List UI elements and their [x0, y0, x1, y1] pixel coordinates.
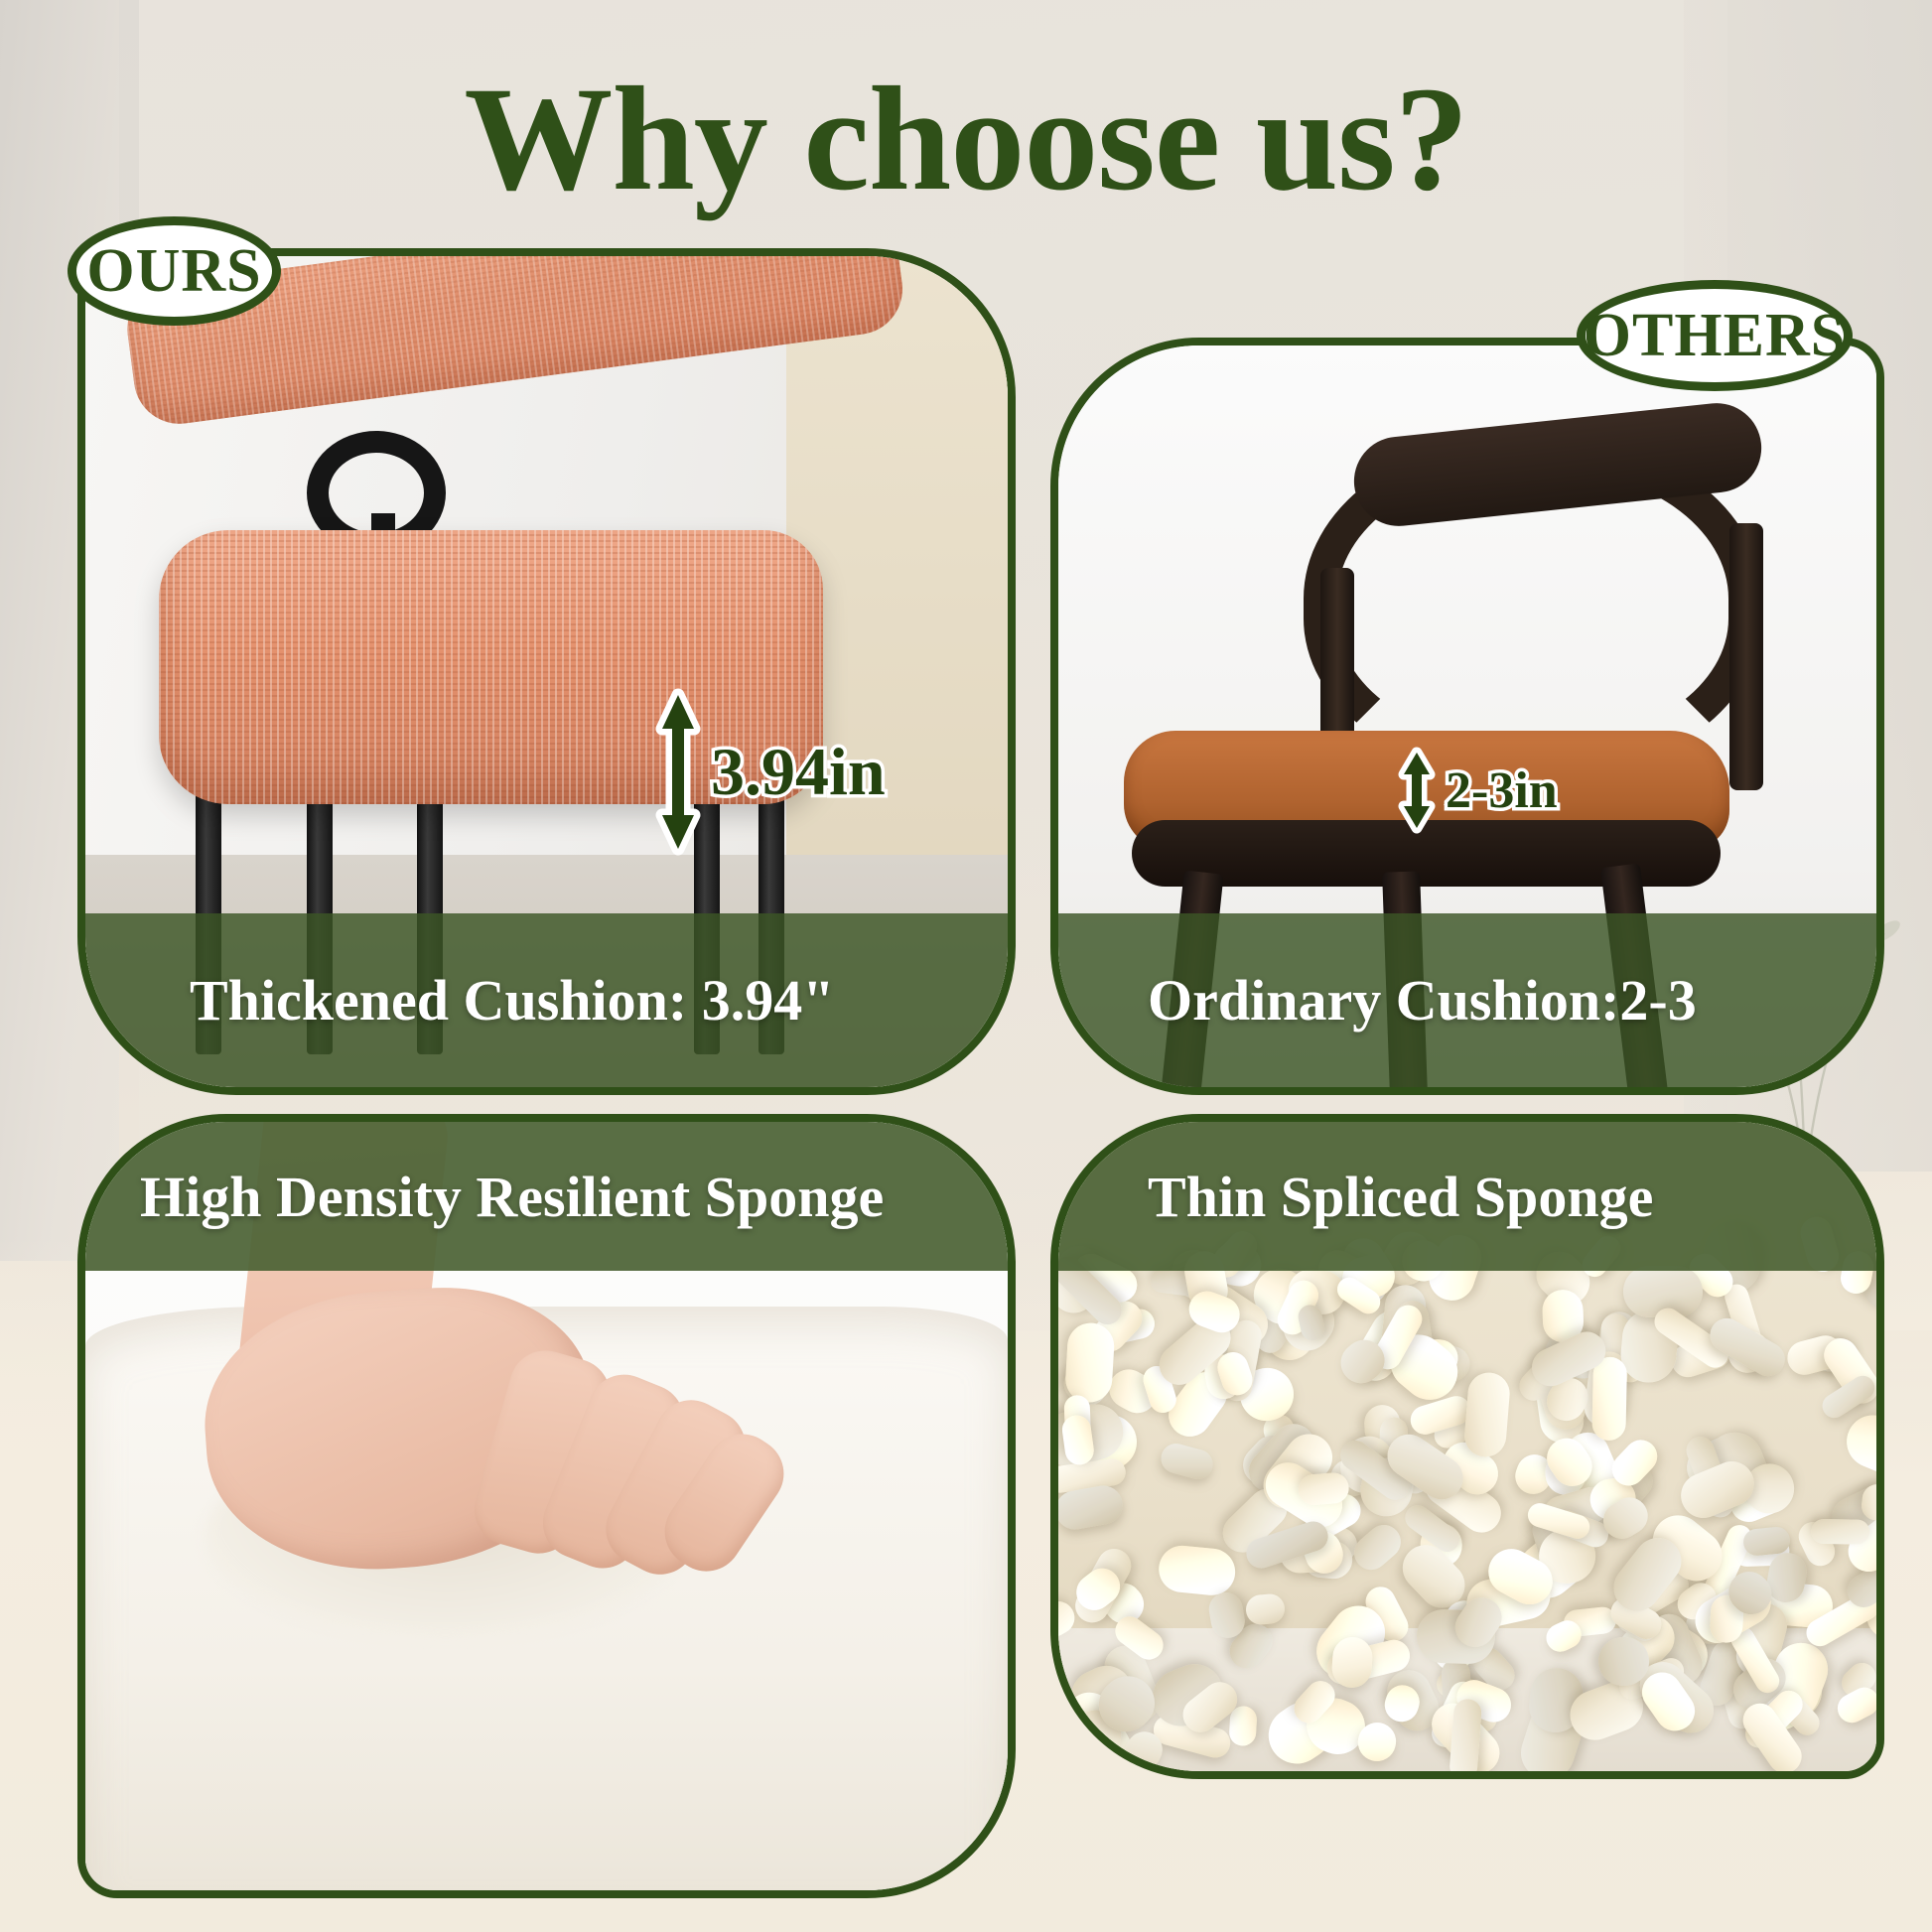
- sponge-chunk: [1245, 1592, 1286, 1625]
- measurement-label-ours: 3.94in: [711, 733, 886, 811]
- caption-ours-sponge: High Density Resilient Sponge: [85, 1122, 1008, 1271]
- caption-others-cushion: Ordinary Cushion:2-3: [1058, 913, 1876, 1087]
- measurement-label-others: 2-3in: [1446, 761, 1558, 820]
- card-others-sponge[interactable]: Thin Spliced Sponge: [1050, 1114, 1884, 1779]
- double-arrow-icon: [1398, 747, 1436, 834]
- card-ours-sponge[interactable]: High Density Resilient Sponge: [77, 1114, 1016, 1898]
- card-ours-cushion[interactable]: Thickened Cushion: 3.94": [77, 248, 1016, 1095]
- caption-ours-cushion: Thickened Cushion: 3.94": [85, 913, 1008, 1087]
- card-others-cushion[interactable]: Ordinary Cushion:2-3: [1050, 338, 1884, 1095]
- page-title: Why choose us?: [0, 62, 1932, 218]
- double-arrow-icon: [655, 685, 701, 859]
- sponge-chunk: [1064, 1321, 1115, 1403]
- sponge-chunk: [1158, 1441, 1216, 1483]
- sponge-chunk: [1838, 1408, 1884, 1485]
- sponge-chunk: [1591, 1357, 1627, 1442]
- sponge-chunk: [1742, 1526, 1791, 1557]
- sponge-chunk: [1347, 1519, 1408, 1578]
- sponge-chunk: [1462, 1371, 1511, 1458]
- measurement-ours: 3.94in: [655, 685, 886, 859]
- caption-others-sponge: Thin Spliced Sponge: [1058, 1122, 1876, 1271]
- sponge-chunk: [1228, 1706, 1257, 1746]
- sponge-chunk: [1810, 1518, 1869, 1544]
- badge-others: OTHERS: [1577, 280, 1853, 391]
- measurement-others: 2-3in: [1398, 747, 1558, 834]
- badge-ours: OURS: [68, 216, 281, 326]
- sponge-chunk: [1157, 1544, 1237, 1598]
